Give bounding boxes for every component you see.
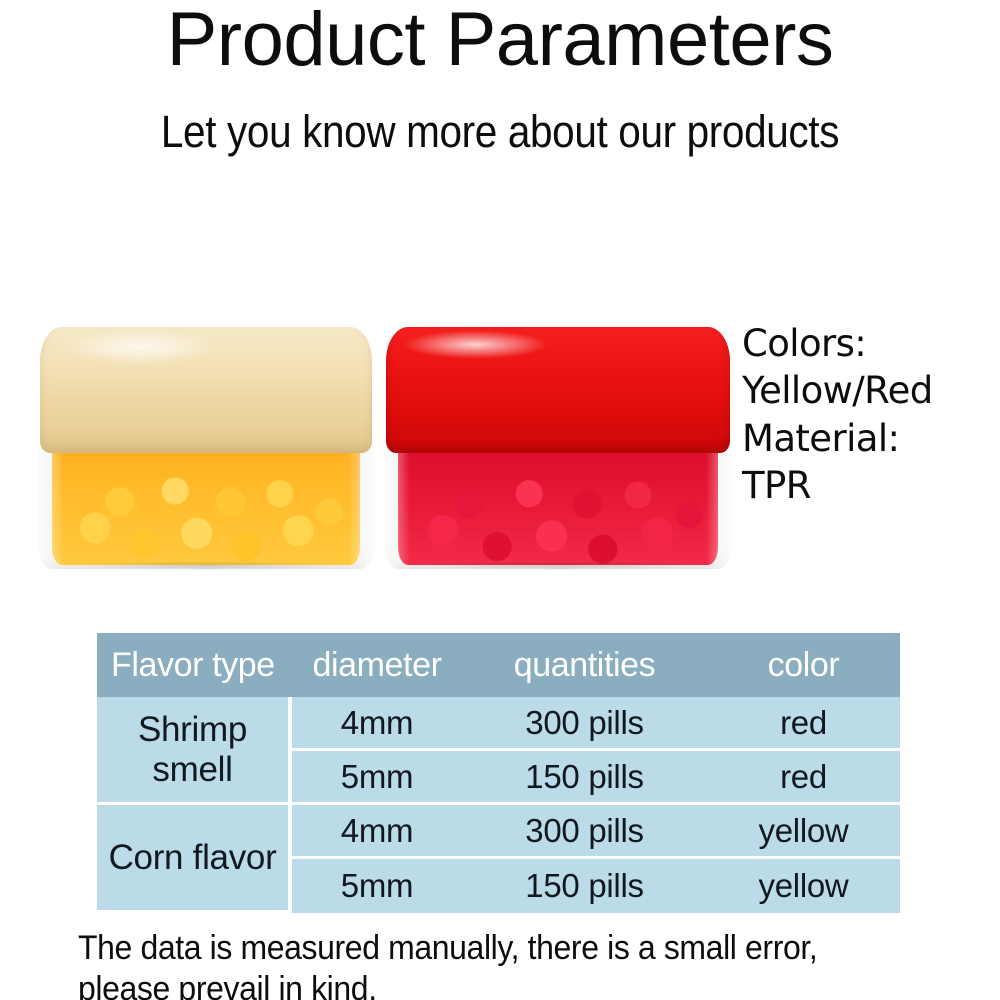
flavor-cell-corn: Corn flavor: [97, 805, 292, 913]
cell-quantities: 300 pills: [462, 697, 707, 751]
table-row: Corn flavor 4mm 300 pills yellow: [97, 805, 900, 859]
table-row: Shrimp smell 4mm 300 pills red: [97, 697, 900, 751]
cell-color: yellow: [707, 805, 900, 859]
cell-color: yellow: [707, 859, 900, 913]
spec-material-value: TPR: [742, 462, 998, 509]
spec-colors-value: Yellow/Red: [742, 367, 998, 414]
column-header-diameter: diameter: [292, 633, 462, 697]
cell-color: red: [707, 697, 900, 751]
cell-quantities: 150 pills: [462, 751, 707, 805]
footnote-line-2: please prevail in kind.: [78, 969, 905, 1000]
cell-quantities: 300 pills: [462, 805, 707, 859]
jar-shadow: [419, 561, 697, 571]
cell-diameter: 5mm: [292, 859, 462, 913]
cell-diameter: 4mm: [292, 805, 462, 859]
table-header-row: Flavor type diameter quantities color: [97, 633, 900, 697]
jar-shadow: [72, 561, 341, 571]
spec-colors-label: Colors:: [742, 320, 998, 367]
product-photo: [20, 300, 740, 575]
red-lid: [386, 327, 730, 453]
yellow-jar-image: [38, 327, 374, 569]
page-title: Product Parameters: [0, 2, 1000, 78]
column-header-flavor-type: Flavor type: [97, 633, 292, 697]
flavor-cell-shrimp: Shrimp smell: [97, 697, 292, 805]
cream-lid: [40, 327, 372, 453]
parameters-table: Flavor type diameter quantities color Sh…: [97, 633, 900, 913]
cell-quantities: 150 pills: [462, 859, 707, 913]
column-header-color: color: [707, 633, 900, 697]
red-jar-image: [384, 327, 732, 569]
footnote-line-1: The data is measured manually, there is …: [78, 928, 905, 969]
spec-material-label: Material:: [742, 415, 998, 462]
cell-diameter: 4mm: [292, 697, 462, 751]
column-header-quantities: quantities: [462, 633, 707, 697]
page-subtitle: Let you know more about our products: [50, 108, 950, 155]
cell-color: red: [707, 751, 900, 805]
footnote: The data is measured manually, there is …: [78, 928, 905, 1000]
cell-diameter: 5mm: [292, 751, 462, 805]
specification-list: Colors: Yellow/Red Material: TPR: [742, 320, 998, 509]
